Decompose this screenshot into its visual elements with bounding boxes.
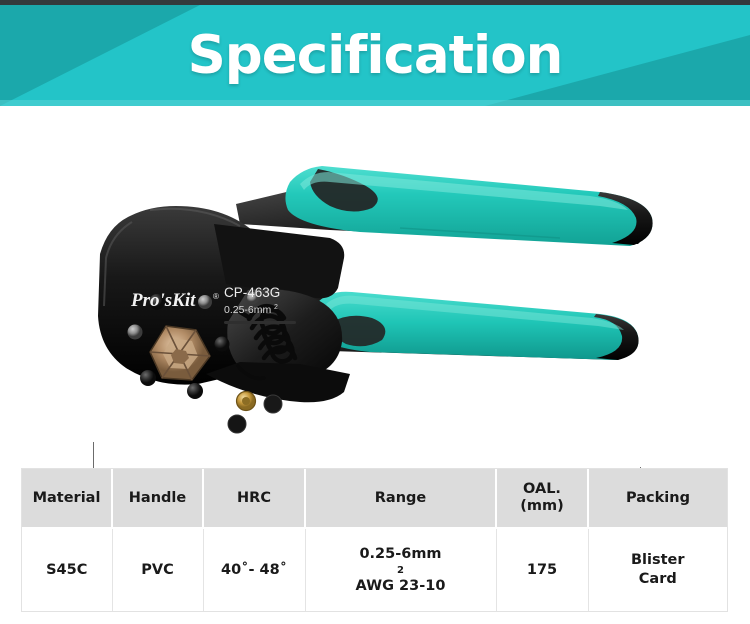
cell-packing: Blister Card <box>588 528 727 611</box>
cell-packing-line2: Card <box>591 570 726 589</box>
header-banner: Specification <box>0 0 750 106</box>
column-header-oal-line1: OAL. <box>523 481 561 497</box>
cell-hrc: 40˚- 48˚ <box>203 528 305 611</box>
cell-packing-line1: Blister <box>591 551 726 570</box>
column-header-handle: Handle <box>112 469 203 528</box>
capacity-marking-text: 0.25-6mm <box>224 304 272 316</box>
crimping-tool-illustration: Pro'sKit ® CP-463G 0.25-6mm 2 <box>0 106 750 456</box>
table-row: S45C PVC 40˚- 48˚ 0.25-6mm2 AWG 23-10 17… <box>22 528 727 611</box>
cell-range-line2: AWG 23-10 <box>308 577 494 596</box>
specification-table: Material Handle HRC Range OAL. (mm) Pack… <box>21 468 728 612</box>
brand-registered-mark: ® <box>213 292 219 301</box>
page-title: Specification <box>0 0 750 106</box>
product-photo: Pro'sKit ® CP-463G 0.25-6mm 2 175mm <box>0 106 750 456</box>
column-header-hrc: HRC <box>203 469 305 528</box>
cell-range: 0.25-6mm2 AWG 23-10 <box>305 528 496 611</box>
column-header-packing: Packing <box>588 469 727 528</box>
column-header-oal-line2: (mm) <box>520 498 563 514</box>
brand-logo-text: Pro'sKit <box>130 290 196 311</box>
cell-range-superscript: 2 <box>308 564 494 577</box>
cell-handle: PVC <box>112 528 203 611</box>
upper-handle <box>236 166 653 246</box>
column-header-oal: OAL. (mm) <box>496 469 588 528</box>
model-number-text: CP-463G <box>224 285 280 300</box>
cell-oal: 175 <box>496 528 588 611</box>
cell-material: S45C <box>22 528 112 611</box>
capacity-marking-superscript: 2 <box>274 304 278 311</box>
column-header-material: Material <box>22 469 112 528</box>
cell-range-line1: 0.25-6mm2 <box>308 545 494 577</box>
cell-range-line1-text: 0.25-6mm <box>308 545 494 564</box>
column-header-range: Range <box>305 469 496 528</box>
table-header-row: Material Handle HRC Range OAL. (mm) Pack… <box>22 469 727 528</box>
marking-divider <box>224 321 296 324</box>
brass-adjustment-screw <box>237 392 256 411</box>
